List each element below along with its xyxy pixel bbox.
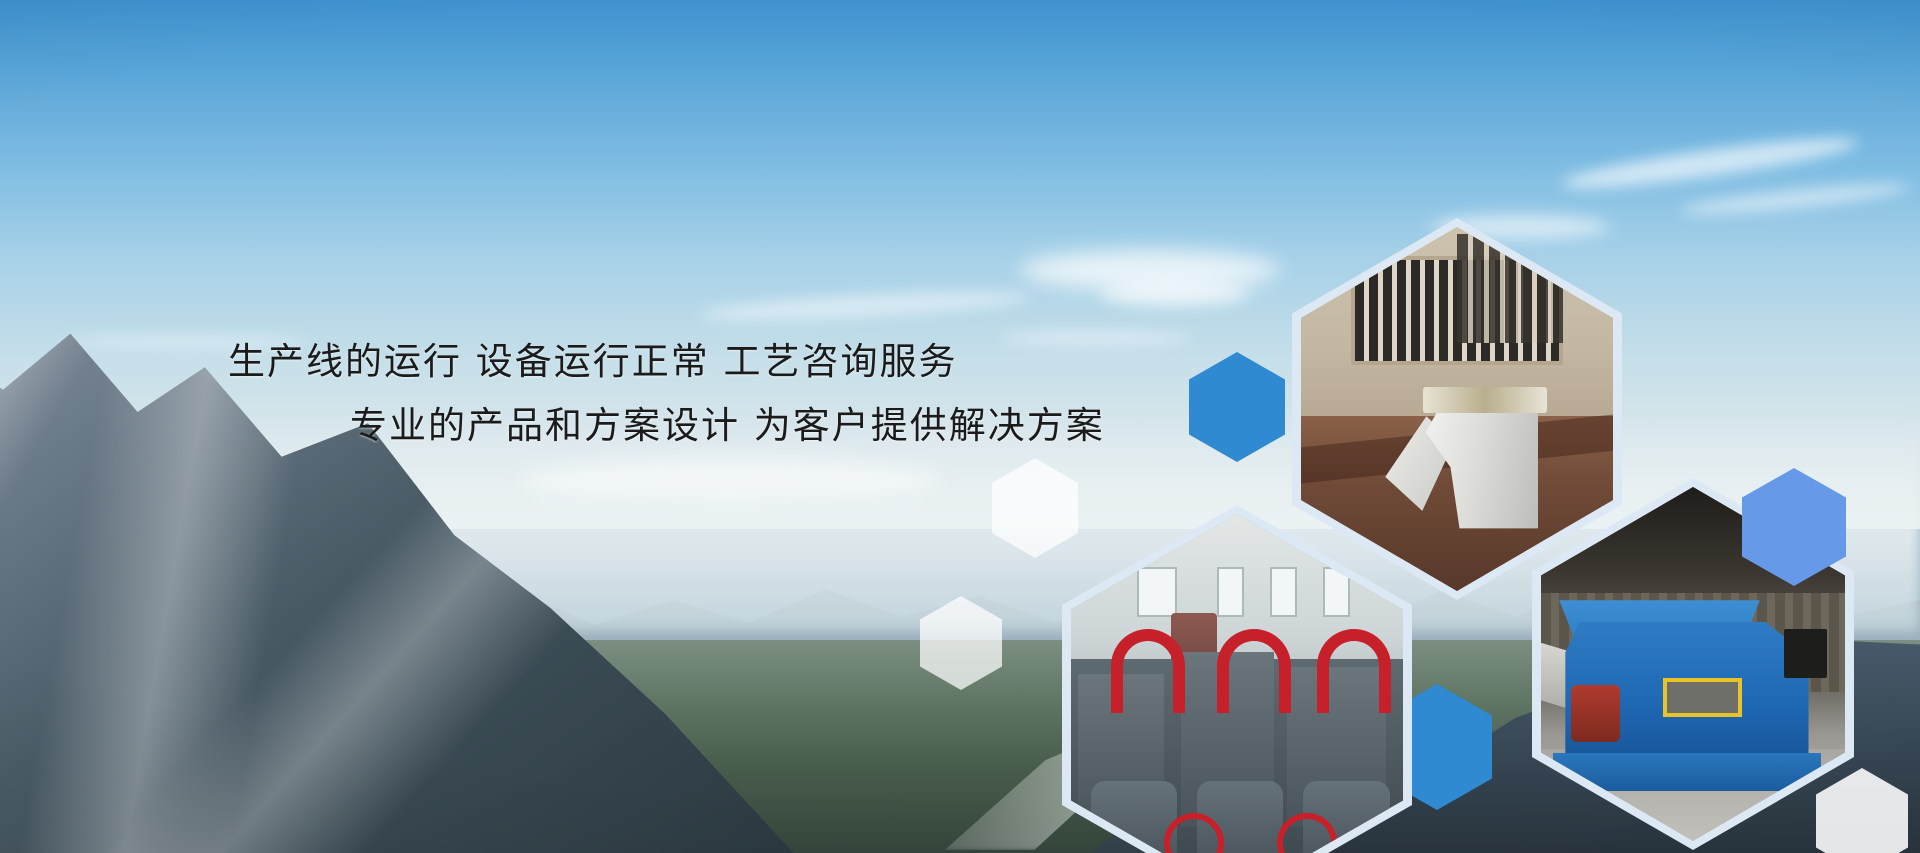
hero-banner: 生产线的运行 设备运行正常 工艺咨询服务 专业的产品和方案设计 为客户提供解决方… xyxy=(0,0,1920,853)
photo-foundry-ladle-image xyxy=(1301,227,1613,591)
